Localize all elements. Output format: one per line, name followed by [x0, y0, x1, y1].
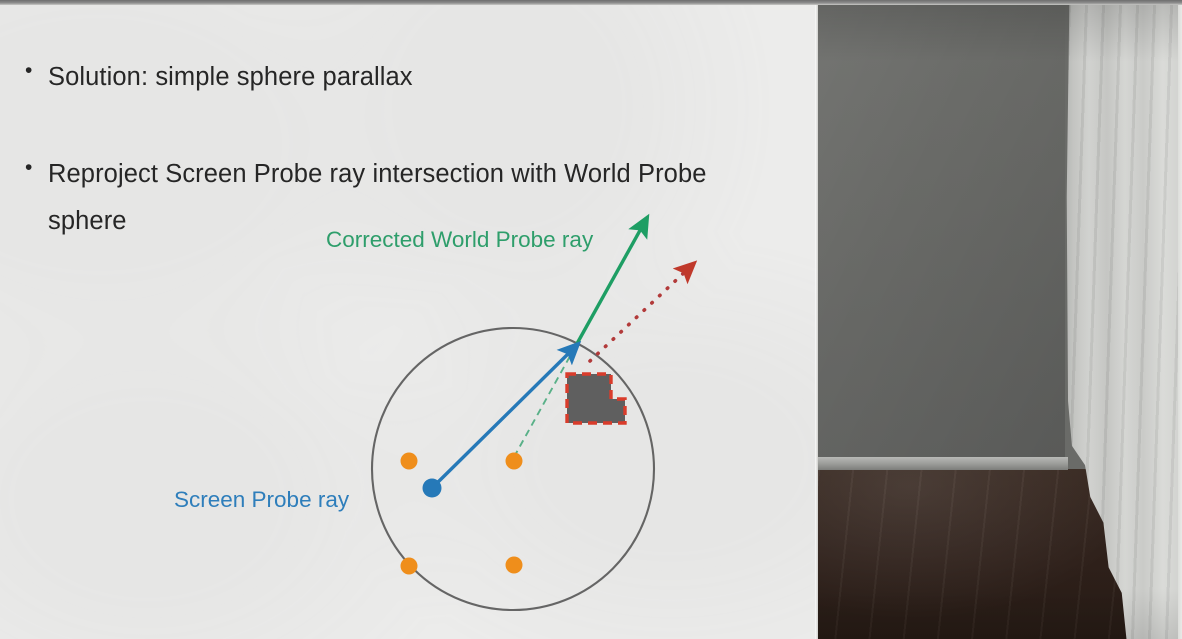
- screen-probe-origin-dot: [423, 479, 442, 498]
- world-probe-dot: [506, 453, 523, 470]
- world-probe-dot: [401, 558, 418, 575]
- video-right-edge: [1178, 5, 1182, 639]
- corrected-world-probe-ray-label: Corrected World Probe ray: [326, 227, 594, 252]
- world-probe-dot: [506, 557, 523, 574]
- uncorrected-world-probe-ray: [590, 269, 688, 361]
- slide-pane: • Solution: simple sphere parallax • Rep…: [0, 5, 818, 639]
- screen-probe-ray: [432, 350, 572, 488]
- webcam-video-pane[interactable]: [818, 5, 1182, 639]
- video-vignette: [818, 5, 1182, 639]
- world-probe-dot: [401, 453, 418, 470]
- world-probe-offset-dashed-line: [514, 349, 574, 457]
- screen-probe-ray-label: Screen Probe ray: [174, 487, 350, 512]
- parallax-diagram: Corrected World Probe ray Screen Probe r…: [0, 5, 818, 639]
- presentation-screen: • Solution: simple sphere parallax • Rep…: [0, 0, 1182, 639]
- occluder-shape: [567, 374, 625, 423]
